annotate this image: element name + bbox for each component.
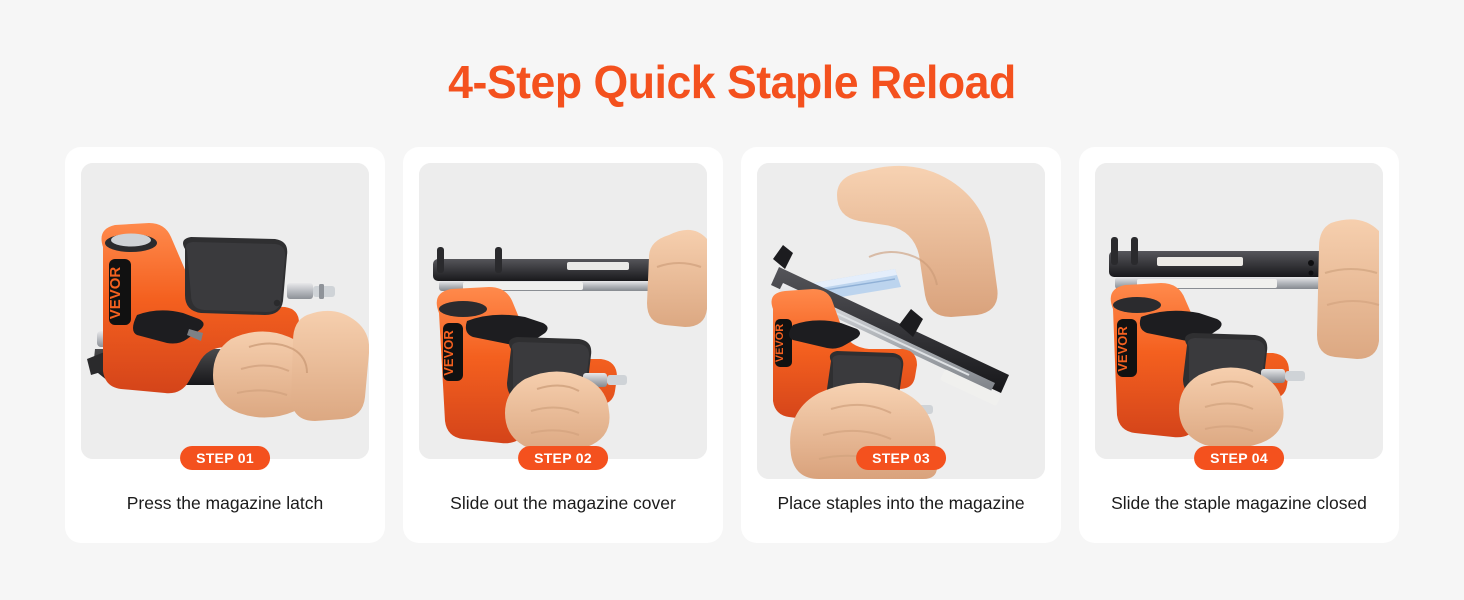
step-card-4[interactable]: VEVOR xyxy=(1079,147,1399,543)
step-badge-2: STEP 02 xyxy=(518,446,608,470)
step-caption-2: Slide out the magazine cover xyxy=(403,491,723,515)
staple-gun-illustration-3: VEVOR xyxy=(757,163,1045,479)
step-photo-3: VEVOR xyxy=(757,163,1045,479)
step-photo-1: VEVOR xyxy=(81,163,369,459)
photo-stage: VEVOR xyxy=(81,163,369,459)
step-badge-1: STEP 01 xyxy=(180,446,270,470)
photo-stage: VEVOR xyxy=(757,163,1045,479)
staple-gun-illustration-4: VEVOR xyxy=(1095,163,1383,459)
svg-text:VEVOR: VEVOR xyxy=(441,330,456,376)
step-card-2[interactable]: VEVOR xyxy=(403,147,723,543)
step-card-1[interactable]: VEVOR xyxy=(65,147,385,543)
step-caption-3: Place staples into the magazine xyxy=(741,491,1061,515)
svg-text:VEVOR: VEVOR xyxy=(1115,326,1130,372)
infographic-page: 4-Step Quick Staple Reload xyxy=(0,0,1464,600)
step-card-3[interactable]: VEVOR STEP xyxy=(741,147,1061,543)
steps-row: VEVOR xyxy=(65,147,1399,543)
staple-gun-illustration-1: VEVOR xyxy=(81,163,369,459)
step-badge-4: STEP 04 xyxy=(1194,446,1284,470)
step-caption-4: Slide the staple magazine closed xyxy=(1079,491,1399,515)
svg-text:VEVOR: VEVOR xyxy=(107,267,124,320)
step-badge-3: STEP 03 xyxy=(856,446,946,470)
photo-stage: VEVOR xyxy=(419,163,707,459)
page-title: 4-Step Quick Staple Reload xyxy=(22,54,1442,110)
step-photo-2: VEVOR xyxy=(419,163,707,459)
photo-stage: VEVOR xyxy=(1095,163,1383,459)
svg-text:VEVOR: VEVOR xyxy=(774,324,786,363)
staple-gun-illustration-2: VEVOR xyxy=(419,163,707,459)
step-photo-4: VEVOR xyxy=(1095,163,1383,459)
step-caption-1: Press the magazine latch xyxy=(65,491,385,515)
